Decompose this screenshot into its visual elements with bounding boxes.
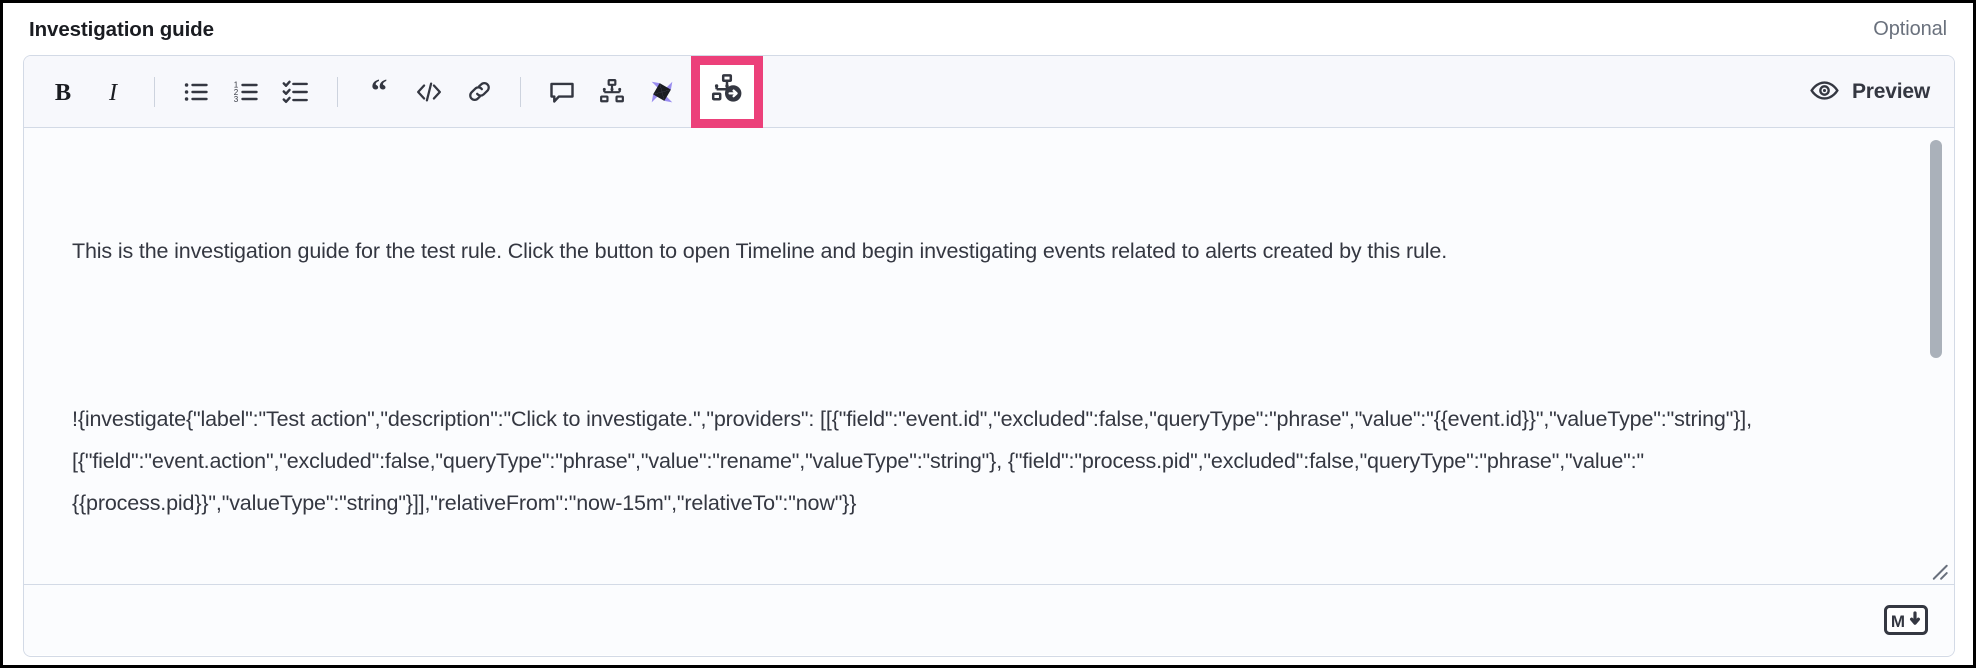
italic-button[interactable]: I bbox=[88, 68, 138, 116]
form-field-header: Investigation guide Optional bbox=[3, 3, 1973, 56]
timeline-button[interactable] bbox=[587, 68, 637, 116]
preview-button[interactable]: Preview bbox=[1804, 70, 1940, 114]
markdown-textarea[interactable]: This is the investigation guide for the … bbox=[24, 128, 1860, 585]
editor-paragraph-investigate: !{investigate{"label":"Test action","des… bbox=[72, 398, 1836, 524]
markdown-toolbar: B I bbox=[24, 56, 1954, 128]
screenshot-frame: Investigation guide Optional B I bbox=[0, 0, 1976, 668]
ordered-list-icon: 1 2 3 bbox=[232, 78, 260, 106]
checklist-button[interactable] bbox=[271, 68, 321, 116]
toolbar-group-lists: 1 2 3 bbox=[171, 68, 321, 116]
toolbar-group-text-style: B I bbox=[38, 68, 138, 116]
resize-handle-icon[interactable] bbox=[1924, 556, 1950, 582]
svg-text:B: B bbox=[55, 79, 71, 105]
page-title: Investigation guide bbox=[29, 18, 214, 42]
insert-investigation-action-button[interactable] bbox=[691, 56, 763, 128]
markdown-footer: M bbox=[24, 585, 1954, 655]
toolbar-group-plugins bbox=[537, 68, 687, 116]
link-icon bbox=[466, 78, 493, 105]
quote-icon: “ bbox=[365, 78, 393, 106]
node-tree-arrow-icon bbox=[711, 73, 743, 110]
code-button[interactable] bbox=[404, 68, 454, 116]
editor-paragraph-intro: This is the investigation guide for the … bbox=[72, 230, 1836, 272]
optional-label: Optional bbox=[1873, 18, 1947, 41]
bold-button[interactable]: B bbox=[38, 68, 88, 116]
comment-icon bbox=[548, 78, 576, 106]
markdown-editor-panel: B I bbox=[23, 55, 1955, 657]
code-icon bbox=[415, 78, 443, 106]
markdown-badge[interactable]: M bbox=[1884, 605, 1928, 635]
eye-icon bbox=[1810, 76, 1839, 108]
node-tree-icon bbox=[598, 78, 626, 106]
link-button[interactable] bbox=[454, 68, 504, 116]
svg-text:M: M bbox=[1891, 612, 1905, 631]
italic-icon: I bbox=[100, 79, 126, 105]
osquery-button[interactable] bbox=[637, 68, 687, 116]
markdown-textarea-wrapper: This is the investigation guide for the … bbox=[24, 128, 1954, 585]
toolbar-divider-1 bbox=[154, 77, 155, 107]
editor-scrollbar[interactable] bbox=[1930, 140, 1942, 572]
tooltip-button[interactable] bbox=[537, 68, 587, 116]
quote-button[interactable]: “ bbox=[354, 68, 404, 116]
toolbar-divider-2 bbox=[337, 77, 338, 107]
svg-text:I: I bbox=[108, 79, 119, 105]
svg-text:“: “ bbox=[371, 78, 388, 106]
unordered-list-button[interactable] bbox=[171, 68, 221, 116]
ordered-list-button[interactable]: 1 2 3 bbox=[221, 68, 271, 116]
unordered-list-icon bbox=[182, 78, 210, 106]
svg-text:3: 3 bbox=[234, 95, 239, 104]
checklist-icon bbox=[282, 78, 310, 106]
bold-icon: B bbox=[50, 79, 76, 105]
toolbar-divider-3 bbox=[520, 77, 521, 107]
editor-scrollbar-thumb[interactable] bbox=[1930, 140, 1942, 358]
preview-label: Preview bbox=[1852, 80, 1930, 104]
toolbar-group-blocks: “ bbox=[354, 68, 504, 116]
osquery-logo-icon bbox=[647, 77, 677, 107]
